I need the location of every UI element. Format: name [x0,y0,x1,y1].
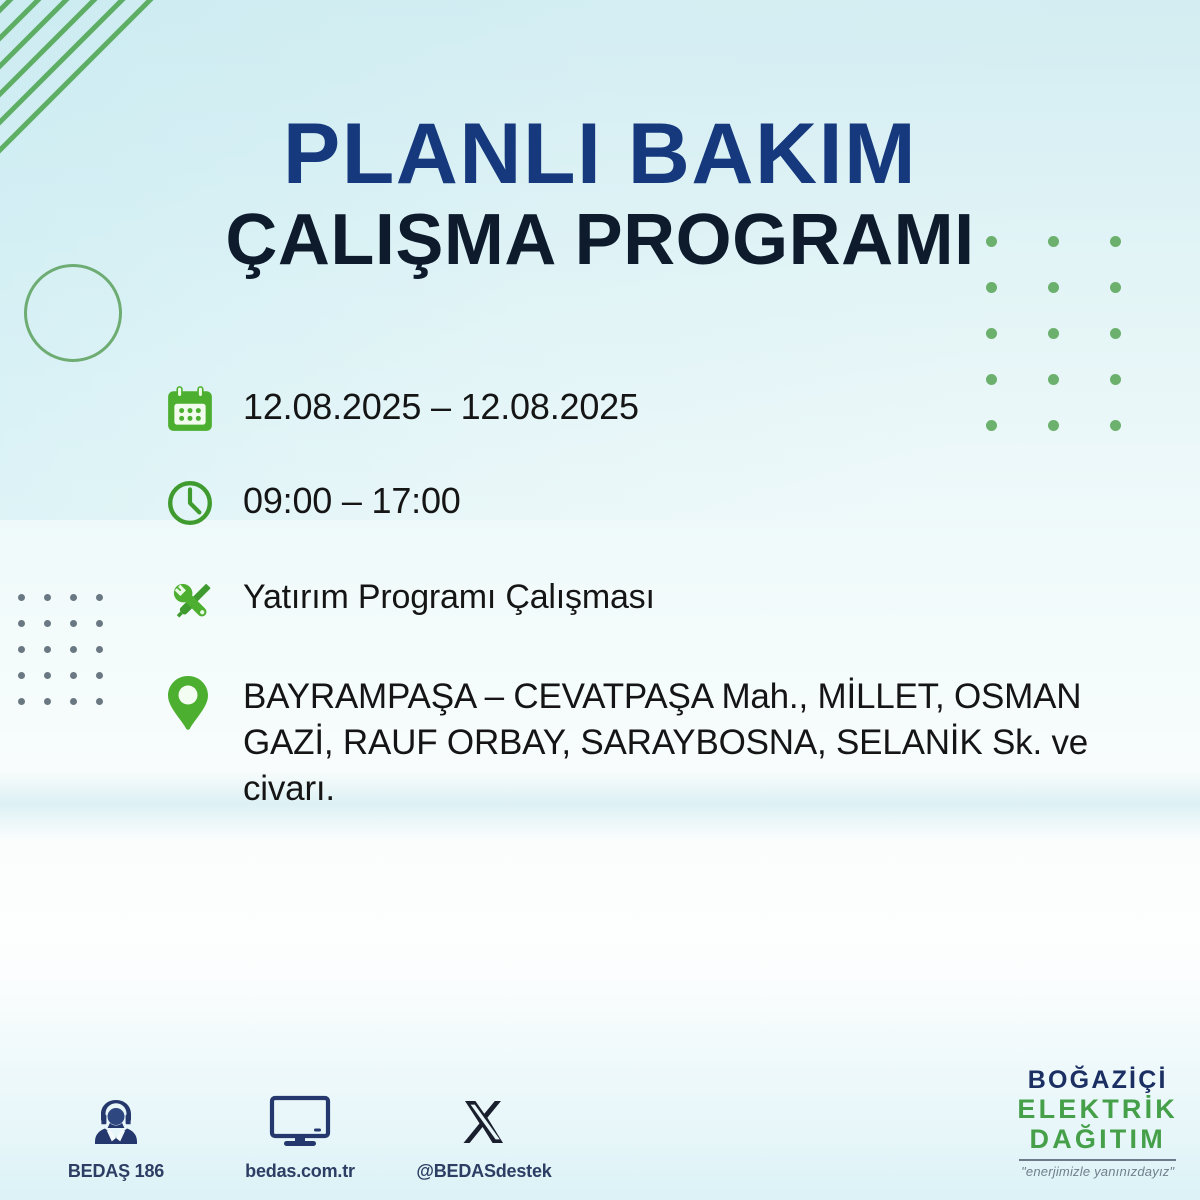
contact-phone[interactable]: BEDAŞ 186 [48,1091,184,1182]
brand-line-bogazici: BOĞAZİÇİ [1017,1068,1178,1093]
brand-logo: BOĞAZİÇİ ELEKTRİK DAĞITIM "enerjimizle y… [1017,1068,1178,1178]
contact-phone-label: BEDAŞ 186 [48,1161,184,1182]
brand-line-elektrik: ELEKTRİK [1017,1096,1178,1123]
info-row-work-type: Yatırım Programı Çalışması [165,574,1155,630]
contact-website[interactable]: bedas.com.tr [232,1091,368,1182]
info-row-location: BAYRAMPAŞA – CEVATPAŞA Mah., MİLLET, OSM… [165,672,1155,813]
brand-line-dagitim: DAĞITIM [1017,1126,1178,1153]
tools-icon [165,574,243,630]
poster-canvas: PLANLI BAKIM ÇALIŞMA PROGRAMI [0,0,1200,1200]
info-list: 12.08.2025 – 12.08.2025 09:00 – 17:00 [165,382,1155,813]
location-text: BAYRAMPAŞA – CEVATPAŞA Mah., MİLLET, OSM… [243,672,1155,813]
location-pin-icon [165,672,243,728]
page-subtitle: ÇALIŞMA PROGRAMI [0,204,1200,276]
x-logo-icon [416,1091,552,1153]
contact-website-label: bedas.com.tr [232,1161,368,1182]
info-row-date: 12.08.2025 – 12.08.2025 [165,382,1155,438]
dot-grid-left-decoration [18,594,122,724]
call-center-agent-icon [48,1091,184,1153]
calendar-icon [165,382,243,438]
footer-contacts: BEDAŞ 186 bedas.com.tr @BEDASdestek [48,1091,552,1182]
contact-x-label: @BEDASdestek [416,1161,552,1182]
time-range-text: 09:00 – 17:00 [243,476,1155,523]
poster-header: PLANLI BAKIM ÇALIŞMA PROGRAMI [0,112,1200,276]
work-type-text: Yatırım Programı Çalışması [243,574,1155,619]
contact-x[interactable]: @BEDASdestek [416,1091,552,1182]
monitor-icon [232,1091,368,1153]
page-title: PLANLI BAKIM [0,112,1200,196]
date-range-text: 12.08.2025 – 12.08.2025 [243,382,1155,429]
clock-icon [165,476,243,532]
brand-tagline: "enerjimizle yanınızdayız" [1017,1165,1178,1178]
info-row-time: 09:00 – 17:00 [165,476,1155,532]
circle-outline-decoration [24,264,122,362]
brand-divider [1019,1159,1176,1161]
